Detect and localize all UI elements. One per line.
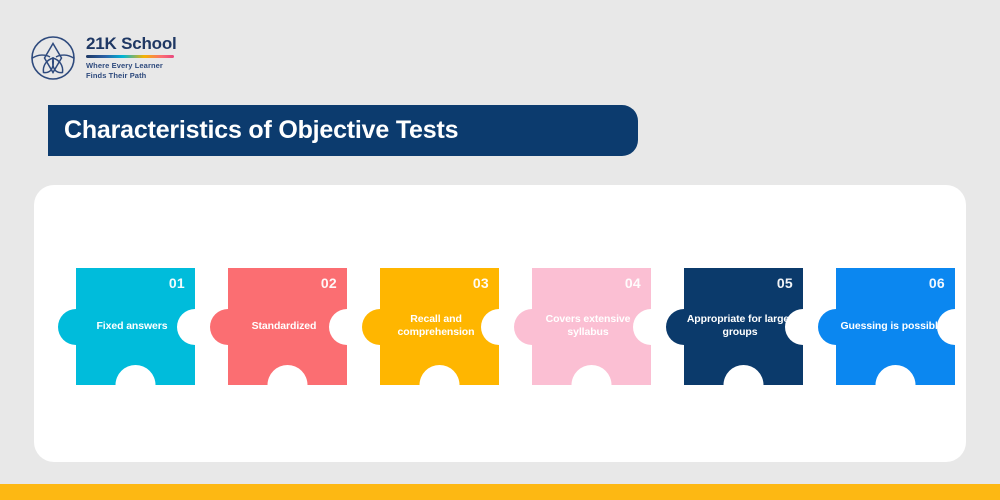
bottom-accent-bar [0, 484, 1000, 500]
brand-tagline-line-1: Where Every Learner [86, 61, 163, 70]
puzzle-piece-06[interactable]: 06Guessing is possible [836, 268, 955, 385]
puzzle-piece-label: Standardized [232, 320, 336, 334]
puzzle-piece-label: Fixed answers [80, 320, 184, 334]
title-banner: Characteristics of Objective Tests [48, 105, 638, 156]
brand-name: 21K School [86, 35, 177, 53]
puzzle-piece-number: 01 [169, 275, 185, 291]
page-title: Characteristics of Objective Tests [48, 116, 458, 145]
puzzle-diagram: 01Fixed answers02Standardized03Recall an… [34, 185, 966, 462]
brand-tagline: Where Every Learner Finds Their Path [86, 61, 177, 81]
puzzle-piece-02[interactable]: 02Standardized [228, 268, 347, 385]
puzzle-piece-label: Recall and comprehension [382, 313, 490, 341]
puzzle-piece-number: 05 [777, 275, 793, 291]
puzzle-piece-01[interactable]: 01Fixed answers [76, 268, 195, 385]
brand-logo: 21K School Where Every Learner Finds The… [30, 32, 177, 84]
lotus-circle-icon [30, 35, 76, 81]
brand-underline-gradient [86, 55, 174, 58]
puzzle-piece-label: Appropriate for larger groups [686, 313, 794, 341]
brand-tagline-line-2: Finds Their Path [86, 71, 146, 80]
puzzle-piece-03[interactable]: 03Recall and comprehension [380, 268, 499, 385]
puzzle-piece-number: 06 [929, 275, 945, 291]
content-card: 01Fixed answers02Standardized03Recall an… [34, 185, 966, 462]
puzzle-piece-label: Guessing is possible [838, 320, 946, 334]
puzzle-piece-04[interactable]: 04Covers extensive syllabus [532, 268, 651, 385]
puzzle-piece-label: Covers extensive syllabus [534, 313, 642, 341]
puzzle-piece-number: 03 [473, 275, 489, 291]
puzzle-piece-number: 04 [625, 275, 641, 291]
puzzle-piece-05[interactable]: 05Appropriate for larger groups [684, 268, 803, 385]
puzzle-piece-number: 02 [321, 275, 337, 291]
brand-logo-text: 21K School Where Every Learner Finds The… [86, 35, 177, 80]
